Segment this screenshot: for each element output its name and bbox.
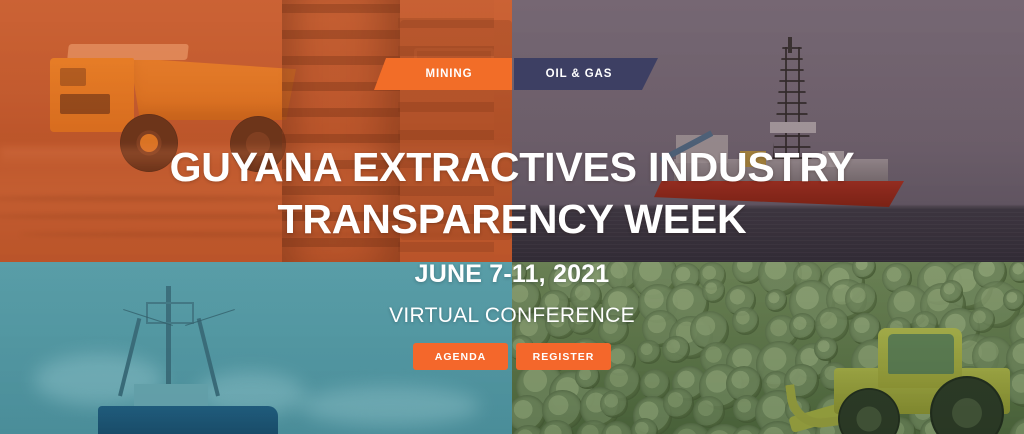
register-button[interactable]: REGISTER bbox=[516, 343, 611, 370]
tab-oil-and-gas[interactable]: OIL & GAS bbox=[514, 58, 658, 90]
event-dates: JUNE 7-11, 2021 bbox=[0, 259, 1024, 289]
cta-group: AGENDA REGISTER bbox=[0, 343, 1024, 370]
agenda-button[interactable]: AGENDA bbox=[413, 343, 508, 370]
event-format: VIRTUAL CONFERENCE bbox=[0, 303, 1024, 329]
hero-banner: MINING OIL & GAS GUYANA EXTRACTIVES INDU… bbox=[0, 0, 1024, 434]
tab-mining[interactable]: MINING bbox=[374, 58, 512, 90]
sector-tab-bar: MINING OIL & GAS bbox=[374, 58, 658, 90]
page-title: GUYANA EXTRACTIVES INDUSTRY TRANSPARENCY… bbox=[0, 0, 1024, 245]
hero-content: GUYANA EXTRACTIVES INDUSTRY TRANSPARENCY… bbox=[0, 0, 1024, 370]
